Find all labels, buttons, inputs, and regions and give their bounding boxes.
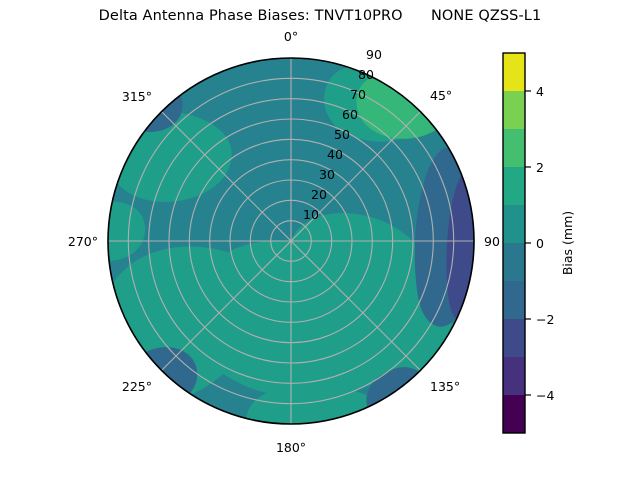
colorbar-band-6	[503, 205, 525, 243]
colorbar-tick-4: 4	[536, 84, 544, 99]
colorbar-band-5	[503, 243, 525, 281]
colorbar-tick-minus2: −2	[536, 312, 554, 327]
colorbar-axis-label: Bias (mm)	[560, 211, 575, 275]
colorbar-band-1	[503, 395, 525, 433]
colorbar[interactable]: 4 2 0 −2 −4 Bias (mm)	[0, 0, 640, 480]
colorbar-band-top	[503, 53, 525, 91]
colorbar-tick-minus4: −4	[536, 388, 554, 403]
colorbar-tick-labels: 4 2 0 −2 −4	[536, 84, 554, 403]
colorbar-band-9	[503, 91, 525, 129]
colorbar-band-3	[503, 319, 525, 357]
colorbar-ticks	[525, 91, 531, 395]
figure-canvas: Delta Antenna Phase Biases: TNVT10PRO NO…	[0, 0, 640, 480]
colorbar-band-8	[503, 129, 525, 167]
colorbar-band-4	[503, 281, 525, 319]
colorbar-band-7	[503, 167, 525, 205]
colorbar-tick-0: 0	[536, 236, 544, 251]
colorbar-band-2	[503, 357, 525, 395]
colorbar-tick-2: 2	[536, 160, 544, 175]
colorbar-bands	[503, 53, 525, 433]
